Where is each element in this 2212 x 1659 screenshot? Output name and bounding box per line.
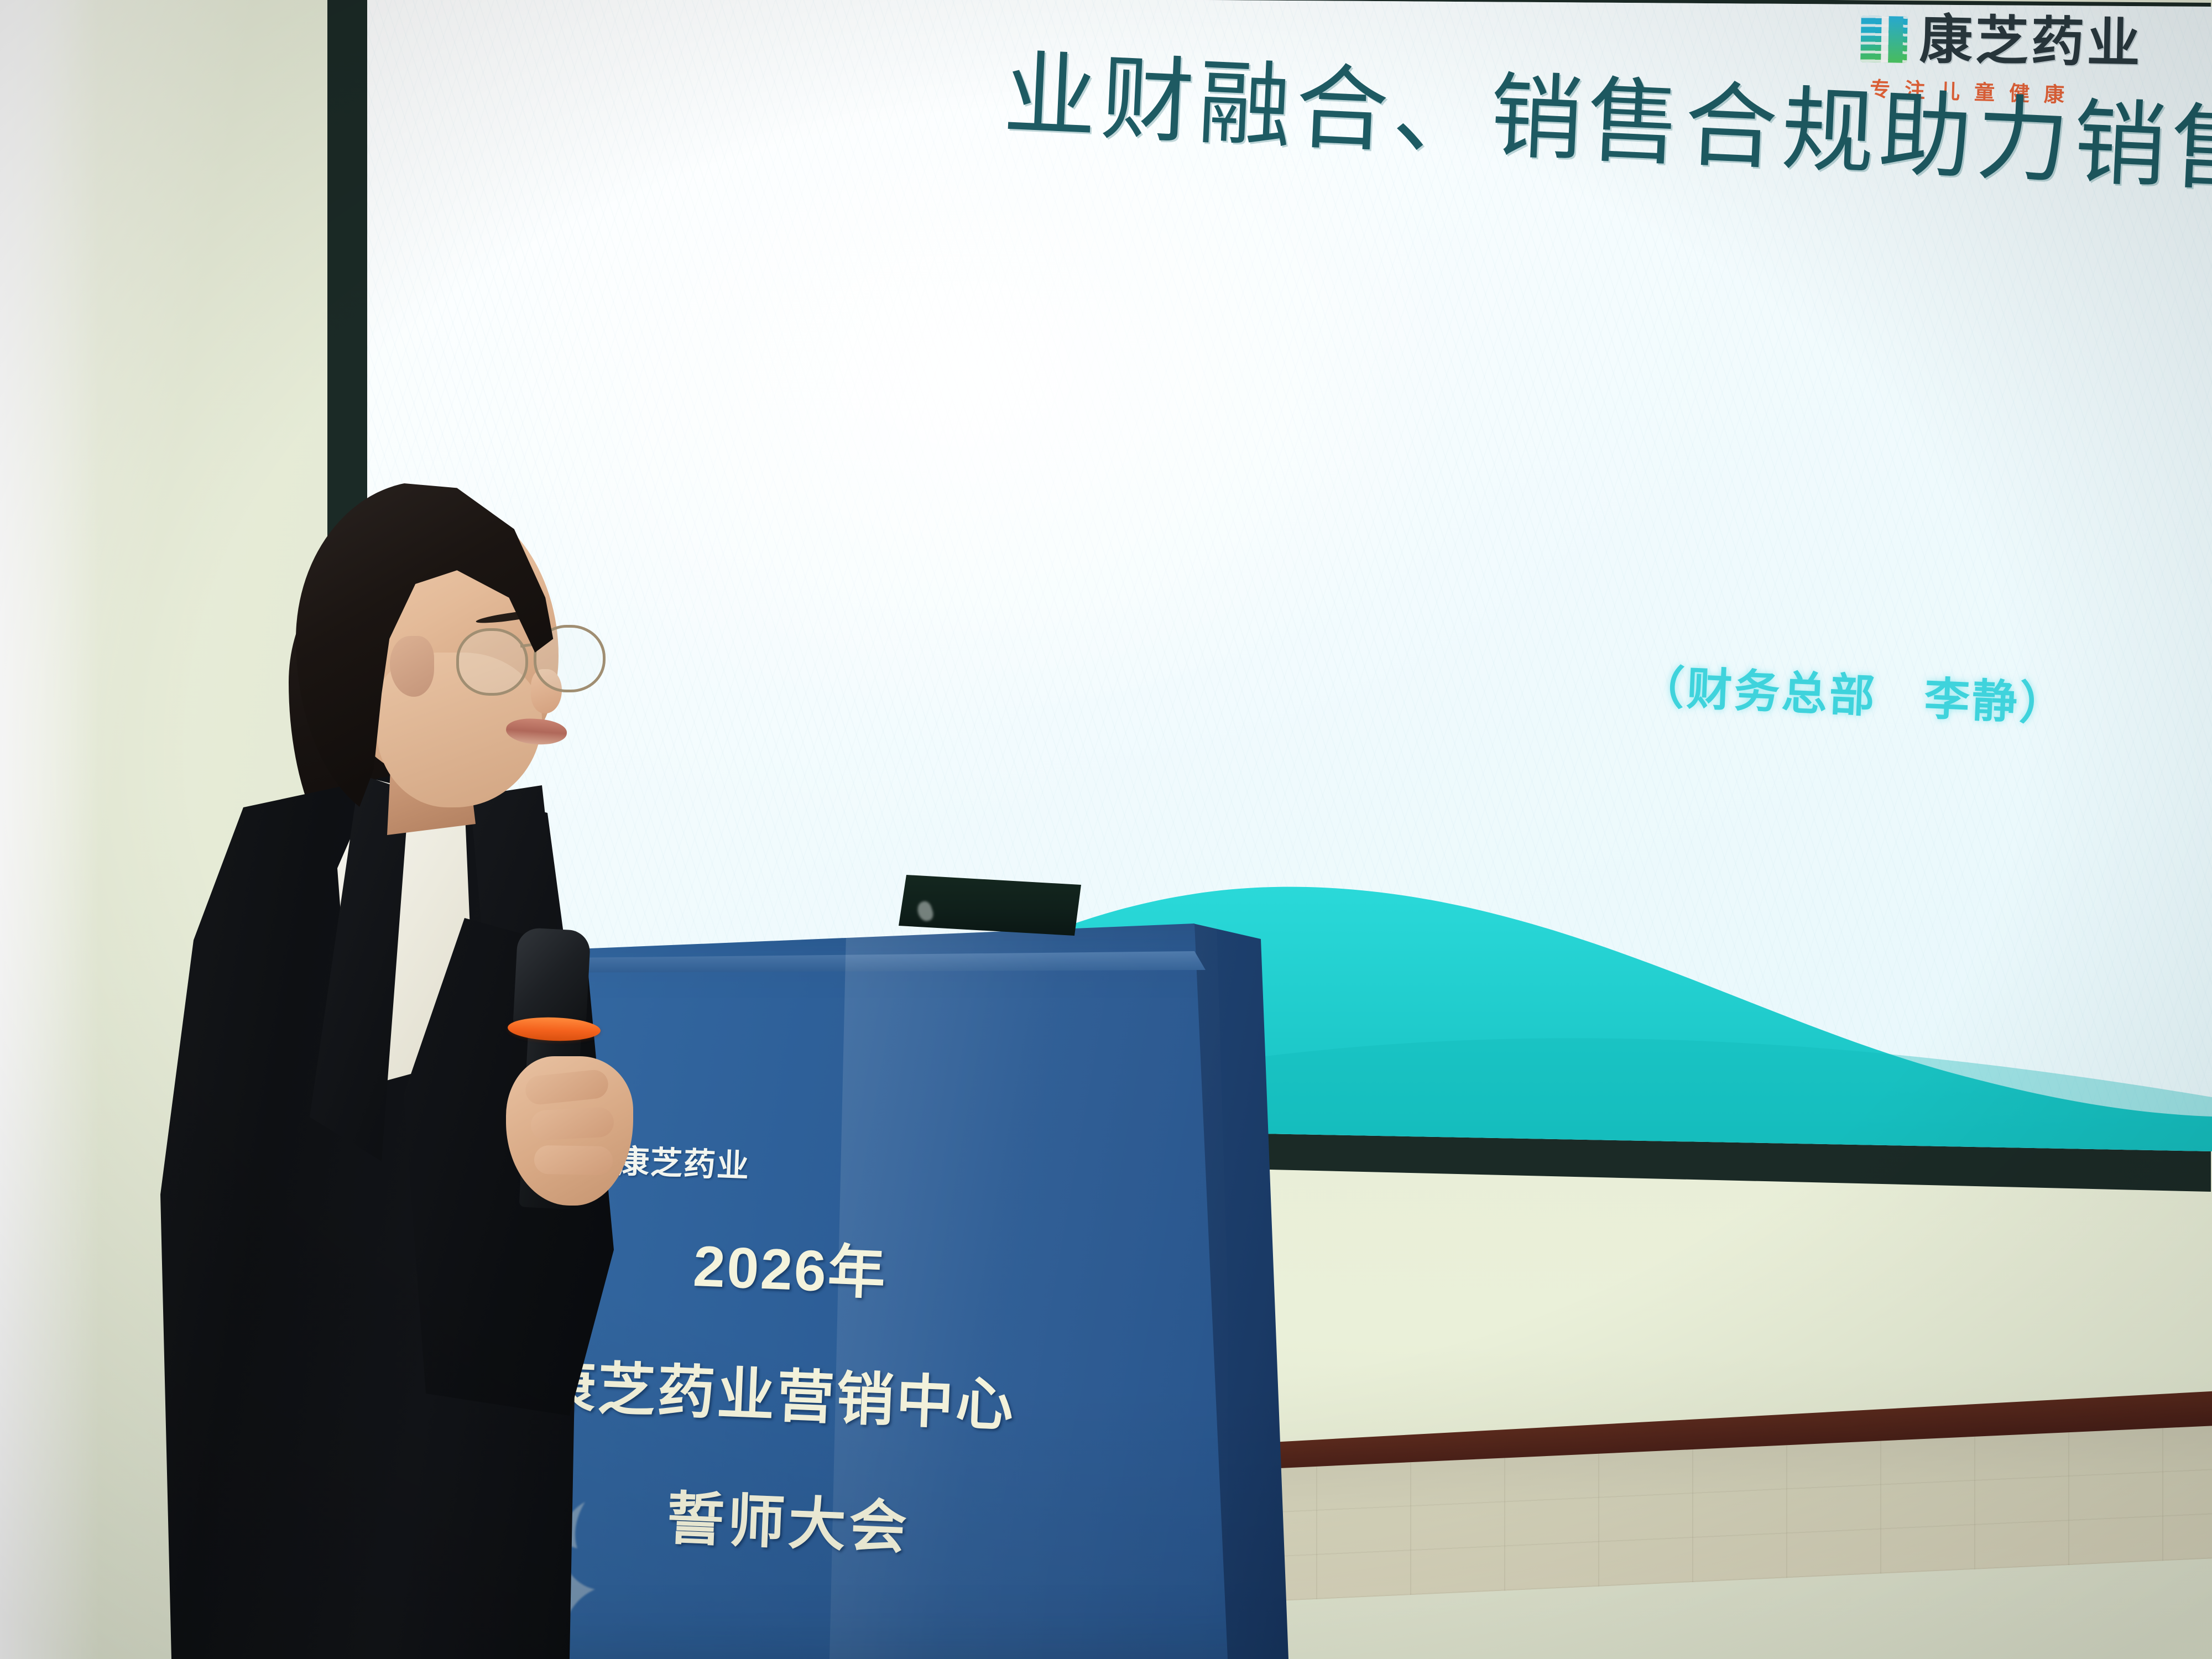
kangzhi-logo-mark-icon xyxy=(1860,15,1908,63)
glasses-lens-left xyxy=(456,628,528,696)
left-wall-highlight xyxy=(0,0,100,1659)
brand-name: 康芝药业 xyxy=(1919,13,2143,71)
presentation-photo-scene: 康芝药业 专注儿童健康 业财融合、销售合规助力销售增长 （财务总部 李静） 康芝… xyxy=(0,0,2212,1659)
microphone-head-icon xyxy=(513,927,591,1031)
presenter-finger xyxy=(534,1145,613,1175)
presenter-finger xyxy=(530,1107,615,1141)
logo-row: 康芝药业 xyxy=(1860,12,2143,71)
presenter xyxy=(144,487,697,1659)
